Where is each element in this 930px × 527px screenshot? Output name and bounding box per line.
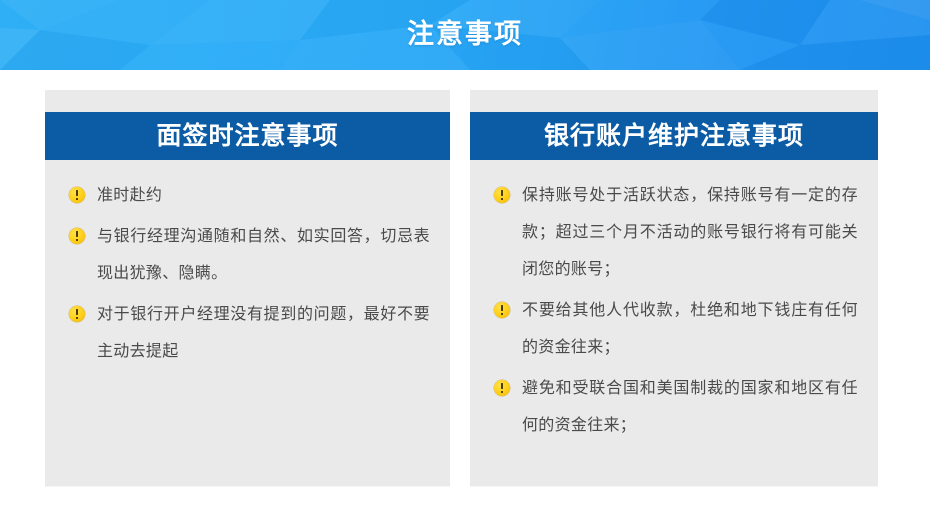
warning-exclamation-icon [494, 187, 510, 203]
list-item-text: 不要给其他人代收款，杜绝和地下钱庄有任何的资金往来； [522, 300, 858, 356]
list-item: 与银行经理沟通随和自然、如实回答，切忌表现出犹豫、隐瞒。 [57, 217, 430, 291]
list-item-text: 避免和受联合国和美国制裁的国家和地区有任何的资金往来； [522, 378, 858, 434]
panel-interview-notes: 面签时注意事项 准时赴约 与银行经理沟通随和自然、如实回答，切忌表现出犹豫、隐瞒… [45, 90, 450, 486]
panel-account-maintenance-notes: 银行账户维护注意事项 保持账号处于活跃状态，保持账号有一定的存款；超过三个月不活… [470, 90, 878, 486]
page-title: 注意事项 [0, 0, 930, 70]
panel-title-interview-notes: 面签时注意事项 [45, 112, 450, 160]
panel-body-interview-notes: 准时赴约 与银行经理沟通随和自然、如实回答，切忌表现出犹豫、隐瞒。 对于银行开户… [45, 160, 450, 373]
warning-exclamation-icon [69, 228, 85, 244]
list-item-text: 准时赴约 [97, 185, 162, 204]
list-item-text: 对于银行开户经理没有提到的问题，最好不要主动去提起 [97, 304, 430, 360]
list-item: 准时赴约 [57, 176, 430, 213]
warning-exclamation-icon [69, 306, 85, 322]
list-item: 避免和受联合国和美国制裁的国家和地区有任何的资金往来； [482, 369, 858, 443]
warning-exclamation-icon [494, 302, 510, 318]
list-item-text: 保持账号处于活跃状态，保持账号有一定的存款；超过三个月不活动的账号银行将有可能关… [522, 185, 858, 278]
list-item: 对于银行开户经理没有提到的问题，最好不要主动去提起 [57, 295, 430, 369]
list-item-text: 与银行经理沟通随和自然、如实回答，切忌表现出犹豫、隐瞒。 [97, 226, 430, 282]
page-header-banner: 注意事项 [0, 0, 930, 70]
notice-panels-container: 面签时注意事项 准时赴约 与银行经理沟通随和自然、如实回答，切忌表现出犹豫、隐瞒… [0, 90, 930, 486]
panel-title-account-maintenance-notes: 银行账户维护注意事项 [470, 112, 878, 160]
warning-exclamation-icon [494, 380, 510, 396]
warning-exclamation-icon [69, 187, 85, 203]
list-item: 保持账号处于活跃状态，保持账号有一定的存款；超过三个月不活动的账号银行将有可能关… [482, 176, 858, 287]
panel-body-account-maintenance-notes: 保持账号处于活跃状态，保持账号有一定的存款；超过三个月不活动的账号银行将有可能关… [470, 160, 878, 447]
list-item: 不要给其他人代收款，杜绝和地下钱庄有任何的资金往来； [482, 291, 858, 365]
